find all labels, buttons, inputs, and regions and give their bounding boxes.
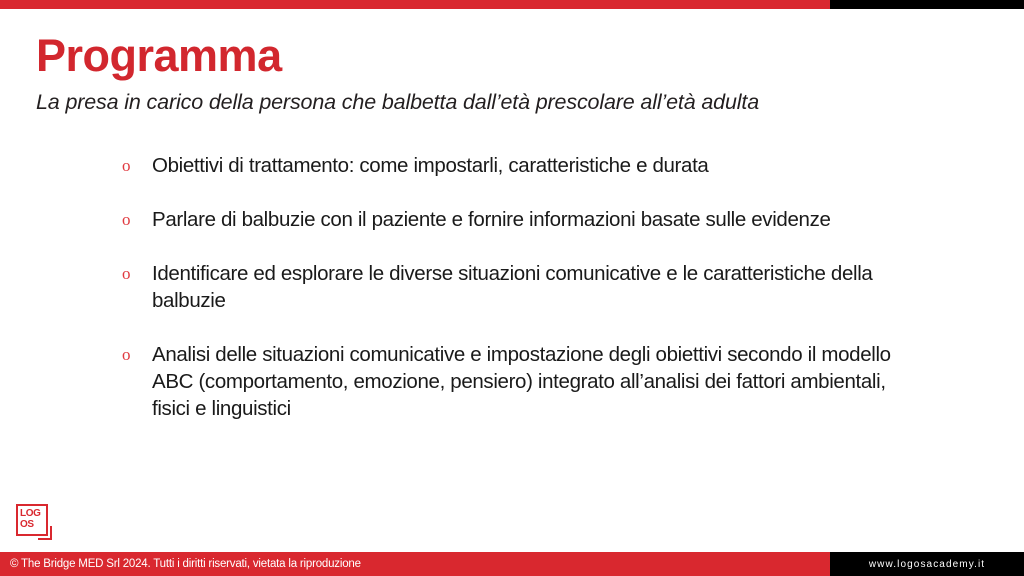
bullet-marker-icon: o	[118, 152, 152, 179]
page-subtitle: La presa in carico della persona che bal…	[36, 90, 996, 116]
list-item: o Obiettivi di trattamento: come imposta…	[118, 152, 908, 179]
list-item: o Analisi delle situazioni comunicative …	[118, 341, 908, 422]
footer-website-text: www.logosacademy.it	[869, 559, 985, 570]
bullet-marker-icon: o	[118, 206, 152, 233]
logo-wordmark: LOG OS	[20, 508, 46, 530]
bullet-list: o Obiettivi di trattamento: come imposta…	[118, 152, 908, 422]
top-accent-bar-red-segment	[0, 0, 830, 9]
top-accent-bar	[0, 0, 1024, 9]
top-accent-bar-black-segment	[830, 0, 1024, 9]
list-item-text: Parlare di balbuzie con il paziente e fo…	[152, 206, 908, 233]
list-item-text: Identificare ed esplorare le diverse sit…	[152, 260, 908, 314]
list-item: o Identificare ed esplorare le diverse s…	[118, 260, 908, 314]
list-item-text: Obiettivi di trattamento: come impostarl…	[152, 152, 908, 179]
list-item-text: Analisi delle situazioni comunicative e …	[152, 341, 908, 422]
logo-wordmark-line1: LOG	[20, 508, 46, 519]
footer-copyright-section: © The Bridge MED Srl 2024. Tutti i dirit…	[0, 552, 830, 576]
slide: Programma La presa in carico della perso…	[0, 0, 1024, 576]
footer-website-section: www.logosacademy.it	[830, 552, 1024, 576]
logos-logo-icon: LOG OS	[16, 504, 56, 544]
footer-copyright-text: © The Bridge MED Srl 2024. Tutti i dirit…	[10, 558, 361, 570]
footer-bar: © The Bridge MED Srl 2024. Tutti i dirit…	[0, 552, 1024, 576]
bullet-marker-icon: o	[118, 341, 152, 368]
title-block: Programma La presa in carico della perso…	[36, 32, 996, 116]
bullet-marker-icon: o	[118, 260, 152, 287]
list-item: o Parlare di balbuzie con il paziente e …	[118, 206, 908, 233]
logo-wordmark-line2: OS	[20, 519, 46, 530]
page-title: Programma	[36, 32, 996, 79]
